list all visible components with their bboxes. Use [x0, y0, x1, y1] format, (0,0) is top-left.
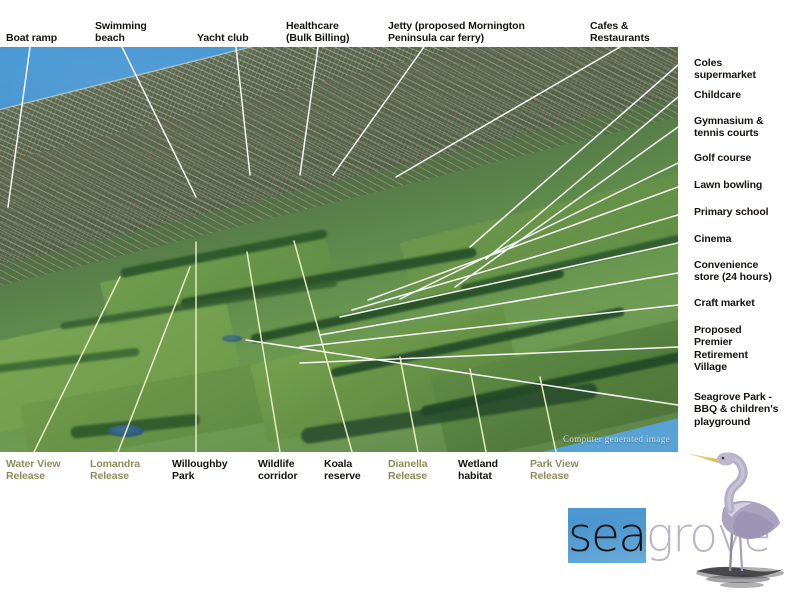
- leader-line: [400, 163, 678, 299]
- top-label: Jetty (proposed Mornington Peninsula car…: [388, 20, 525, 44]
- watermark-text: Computer generated image: [563, 434, 670, 444]
- leader-line: [8, 47, 30, 207]
- top-label: Cafes & Restaurants: [590, 20, 650, 44]
- bottom-label: Wetland habitat: [458, 458, 498, 483]
- leader-line: [34, 277, 120, 452]
- leader-line: [340, 243, 678, 317]
- right-label: Lawn bowling: [694, 179, 800, 191]
- leader-line: [300, 47, 318, 175]
- bottom-label: Koala reserve: [324, 458, 361, 483]
- right-label-column: Coles supermarketChildcareGymnasium & te…: [694, 47, 800, 452]
- leader-line: [486, 97, 678, 259]
- leader-line: [122, 47, 196, 197]
- leader-line: [396, 47, 620, 177]
- right-label: Coles supermarket: [694, 57, 800, 82]
- leader-line: [300, 347, 678, 363]
- leader-line: [118, 267, 190, 452]
- right-label: Primary school: [694, 206, 800, 218]
- bottom-label: Water View Release: [6, 458, 60, 483]
- top-label: Healthcare (Bulk Billing): [286, 20, 349, 44]
- right-label: Proposed Premier Retirement Village: [694, 324, 800, 373]
- right-label: Cinema: [694, 233, 800, 245]
- leader-line: [400, 357, 418, 452]
- right-label: Seagrove Park - BBQ & children's playgro…: [694, 391, 800, 428]
- leader-line: [540, 377, 556, 452]
- leader-line: [247, 252, 280, 452]
- bottom-label: Lomandra Release: [90, 458, 140, 483]
- leader-line: [333, 47, 424, 175]
- leader-line: [455, 127, 678, 287]
- leader-line: [352, 215, 678, 310]
- seagrove-logo: seagrove: [560, 452, 800, 600]
- top-label: Swimming beach: [95, 20, 147, 44]
- leader-line: [470, 369, 486, 452]
- right-label: Golf course: [694, 152, 800, 164]
- right-label: Childcare: [694, 89, 800, 101]
- leader-line: [300, 305, 678, 347]
- aerial-locality-map: Boat rampSwimming beachYacht clubHealthc…: [0, 0, 800, 600]
- leader-line: [368, 187, 678, 300]
- right-label: Convenience store (24 hours): [694, 259, 800, 284]
- leader-lines: [0, 47, 678, 452]
- leader-line: [470, 65, 678, 247]
- heron-bird-icon: [680, 447, 800, 597]
- bottom-label: Dianella Release: [388, 458, 427, 483]
- right-label: Gymnasium & tennis courts: [694, 115, 800, 140]
- right-label: Craft market: [694, 297, 800, 309]
- leader-line: [236, 47, 250, 175]
- top-label: Yacht club: [197, 32, 249, 44]
- top-label: Boat ramp: [6, 32, 57, 44]
- bottom-label: Wildlife corridor: [258, 458, 297, 483]
- bottom-label: Willoughby Park: [172, 458, 227, 483]
- logo-word-sea: sea: [568, 508, 646, 563]
- top-label-band: Boat rampSwimming beachYacht clubHealthc…: [0, 0, 800, 47]
- aerial-photograph: Computer generated image: [0, 47, 678, 452]
